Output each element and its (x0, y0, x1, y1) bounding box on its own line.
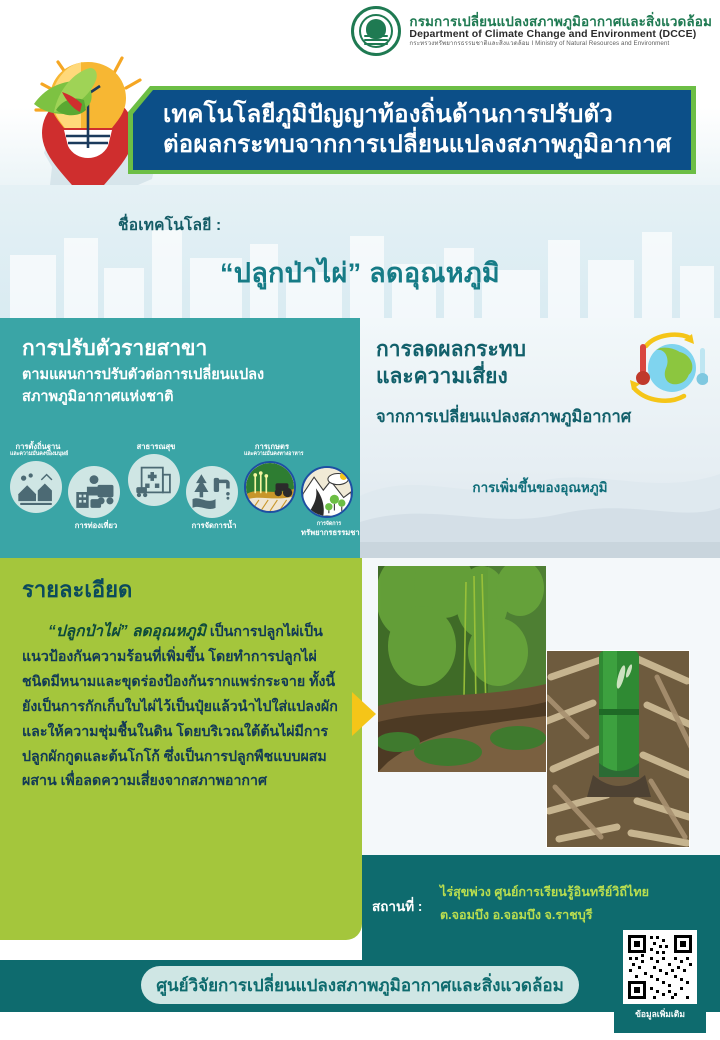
footer-bottom-strip (0, 1012, 720, 1040)
adaptation-subtitle-2: สภาพภูมิอากาศแห่งชาติ (22, 387, 347, 409)
sector-caption-public-health: สาธารณสุข (128, 442, 184, 451)
globe-thermometer-icon (616, 330, 708, 408)
photo-area (362, 558, 720, 868)
poster-title-banner: เทคโนโลยีภูมิปัญญาท้องถิ่นด้านการปรับตัว… (128, 86, 696, 174)
dcce-ministry: กระทรวงทรัพยากรธรรมชาติและสิ่งแวดล้อม I … (409, 41, 712, 48)
technology-label: ชื่อเทคโนโลยี : (118, 212, 221, 237)
dcce-org-th: กรมการเปลี่ยนแปลงสภาพภูมิอากาศและสิ่งแวด… (409, 14, 712, 29)
qr-caption: ข้อมูลเพิ่มเติม (635, 1007, 685, 1021)
adaptation-subtitle-1: ตามแผนการปรับตัวต่อการเปลี่ยนแปลง (22, 365, 347, 387)
poster-header: กรมการเปลี่ยนแปลงสภาพภูมิอากาศและสิ่งแวด… (0, 0, 720, 195)
tourism-icon (68, 466, 120, 518)
arrow-right-icon (352, 692, 376, 736)
mitigation-title-line-1: การลดผลกระทบ (376, 336, 526, 363)
sector-icon-row: การตั้งถิ่นฐาน และความมั่นคงของมนุษย์ (6, 440, 358, 552)
cold-thermometer (697, 348, 709, 385)
natural-resources-icon (301, 466, 353, 518)
dcce-logo: กรมการเปลี่ยนแปลงสภาพภูมิอากาศและสิ่งแวด… (351, 6, 712, 56)
adaptation-panel: การปรับตัวรายสาขา ตามแผนการปรับตัวต่อการ… (0, 318, 360, 558)
details-title: รายละเอียด (22, 572, 132, 607)
poster-title-line-1: เทคโนโลยีภูมิปัญญาท้องถิ่นด้านการปรับตัว (163, 100, 691, 130)
location-value: ไร่สุขพ่วง ศูนย์การเรียนรู้อินทรีย์วิถีไ… (440, 881, 708, 928)
bamboo-culm-photo (546, 650, 690, 848)
agriculture-icon (244, 461, 296, 513)
adaptation-title: การปรับตัวรายสาขา (22, 336, 347, 362)
adaptation-heading: การปรับตัวรายสาขา ตามแผนการปรับตัวต่อการ… (22, 336, 347, 409)
details-panel: รายละเอียด “ปลูกป่าไผ่” ลดอุณหภูมิ เป็นก… (0, 558, 362, 940)
details-body: “ปลูกป่าไผ่” ลดอุณหภูมิ เป็นการปลูกไผ่เป… (22, 618, 342, 794)
dcce-seal-icon (351, 6, 401, 56)
sector-caption-settlement: การตั้งถิ่นฐาน และความมั่นคงของมนุษย์ (10, 442, 66, 458)
bamboo-grove-photo (378, 566, 546, 772)
poster-title-inner: เทคโนโลยีภูมิปัญญาท้องถิ่นด้านการปรับตัว… (133, 90, 691, 170)
sector-caption-agriculture: การเกษตร และความมั่นคงทางอาหาร (244, 442, 300, 458)
footer-text: ศูนย์วิจัยการเปลี่ยนแปลงสภาพภูมิอากาศและ… (156, 972, 564, 999)
mitigation-panel: การลดผลกระทบ และความเสี่ยง จากการเปลี่ยน… (360, 318, 720, 558)
sector-caption-water-management: การจัดการน้ำ (186, 521, 242, 530)
sector-item-natural-resources[interactable]: การจัดการ ทรัพยากรธรรมชาติ (301, 466, 357, 537)
details-text: เป็นการปลูกไผ่เป็นแนวป้องกันความร้อนที่เ… (22, 624, 338, 789)
sector-item-public-health[interactable]: สาธารณสุข (128, 442, 184, 506)
footer-pill: ศูนย์วิจัยการเปลี่ยนแปลงสภาพภูมิอากาศและ… (141, 966, 579, 1004)
qr-code-icon[interactable] (623, 930, 697, 1004)
poster-title-line-2: ต่อผลกระทบจากการเปลี่ยนแปลงสภาพภูมิอากาศ (163, 130, 691, 160)
water-management-icon (186, 466, 238, 518)
sector-caption-tourism: การท่องเที่ยว (68, 521, 124, 530)
settlement-icon (10, 461, 62, 513)
dcce-logo-text: กรมการเปลี่ยนแปลงสภาพภูมิอากาศและสิ่งแวด… (409, 14, 712, 48)
technology-name-band: ชื่อเทคโนโลยี : “ปลูกป่าไผ่” ลดอุณหภูมิ (0, 185, 720, 320)
poster-root: กรมการเปลี่ยนแปลงสภาพภูมิอากาศและสิ่งแวด… (0, 0, 720, 1040)
seal-waves-icon (364, 35, 388, 45)
technology-name: “ปลูกป่าไผ่” ลดอุณหภูมิ (0, 251, 720, 294)
mitigation-title: การลดผลกระทบ และความเสี่ยง (376, 336, 526, 391)
poster-footer: ศูนย์วิจัยการเปลี่ยนแปลงสภาพภูมิอากาศและ… (0, 960, 720, 1012)
sector-item-agriculture[interactable]: การเกษตร และความมั่นคงทางอาหาร (244, 442, 300, 513)
sector-item-water-management[interactable]: การจัดการน้ำ (186, 466, 242, 530)
details-lead: “ปลูกป่าไผ่” ลดอุณหภูมิ (48, 623, 206, 640)
mitigation-title-line-2: และความเสี่ยง (376, 363, 526, 390)
sector-caption-natural-resources: การจัดการ ทรัพยากรธรรมชาติ (301, 521, 357, 537)
hills-graphic (360, 438, 720, 558)
sector-item-tourism[interactable]: การท่องเที่ยว (68, 466, 124, 530)
hot-thermometer (636, 344, 650, 385)
mitigation-subtitle: จากการเปลี่ยนแปลงสภาพภูมิอากาศ (376, 404, 631, 430)
sector-item-settlement[interactable]: การตั้งถิ่นฐาน และความมั่นคงของมนุษย์ (10, 442, 66, 513)
location-line-1: ไร่สุขพ่วง ศูนย์การเรียนรู้อินทรีย์วิถีไ… (440, 881, 708, 904)
location-label: สถานที่ : (372, 895, 422, 917)
mitigation-note: การเพิ่มขึ้นของอุณหภูมิ (360, 476, 720, 498)
public-health-icon (128, 454, 180, 506)
qr-block[interactable]: ข้อมูลเพิ่มเติม (614, 925, 706, 1033)
